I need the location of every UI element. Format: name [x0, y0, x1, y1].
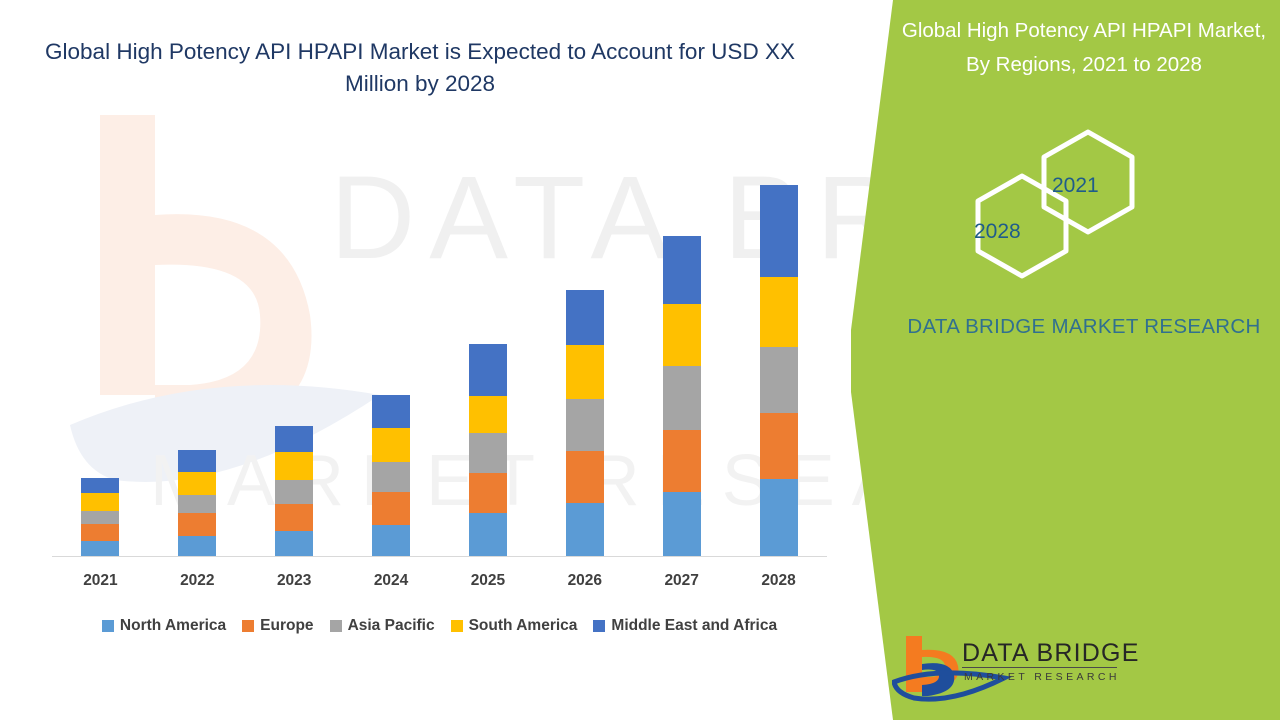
green-panel-content: Global High Potency API HPAPI Market, By… — [900, 0, 1280, 720]
x-axis-tick-2026: 2026 — [545, 572, 625, 590]
legend-item[interactable]: Middle East and Africa — [593, 617, 777, 635]
bar-segment — [275, 480, 313, 504]
bar-segment — [663, 236, 701, 304]
x-axis-line — [52, 556, 827, 557]
bar-segment — [372, 462, 410, 492]
x-axis-tick-2022: 2022 — [157, 572, 237, 590]
bar-segment — [275, 504, 313, 531]
bar-segment — [81, 493, 119, 511]
hexagon-badges — [960, 128, 1220, 283]
bar-2027 — [663, 236, 701, 556]
x-axis-tick-2027: 2027 — [642, 572, 722, 590]
legend-item[interactable]: Asia Pacific — [330, 617, 435, 635]
bar-segment — [275, 426, 313, 452]
bar-segment — [469, 473, 507, 513]
bar-2022 — [178, 450, 216, 556]
bar-segment — [469, 396, 507, 433]
logo-company-name: DATA BRIDGE — [962, 639, 1140, 668]
bar-segment — [372, 492, 410, 525]
x-axis-tick-2023: 2023 — [254, 572, 334, 590]
bar-segment — [760, 347, 798, 413]
hexagon-2021-label: 2021 — [1052, 174, 1099, 198]
x-axis-tick-2024: 2024 — [351, 572, 431, 590]
legend-label: Asia Pacific — [348, 617, 435, 635]
bar-segment — [663, 492, 701, 556]
hexagon-2028-label: 2028 — [974, 220, 1021, 244]
bar-segment — [178, 536, 216, 556]
panel-title: Global High Potency API HPAPI Market, By… — [894, 14, 1274, 82]
bar-segment — [81, 511, 119, 524]
logo-divider — [962, 667, 1117, 668]
bar-segment — [760, 185, 798, 277]
bar-segment — [566, 399, 604, 451]
bar-segment — [178, 495, 216, 513]
bar-2025 — [469, 344, 507, 556]
legend-label: Middle East and Africa — [611, 617, 777, 635]
bar-segment — [469, 344, 507, 396]
bar-2028 — [760, 185, 798, 556]
legend-label: Europe — [260, 617, 313, 635]
legend-item[interactable]: Europe — [242, 617, 313, 635]
bar-segment — [372, 428, 410, 462]
bar-segment — [566, 451, 604, 503]
chart-title: Global High Potency API HPAPI Market is … — [40, 36, 800, 100]
bar-2026 — [566, 290, 604, 556]
x-axis-labels: 20212022202320242025202620272028 — [52, 572, 827, 596]
brand-name: DATA BRIDGE MARKET RESEARCH — [894, 310, 1274, 343]
x-axis-tick-2028: 2028 — [739, 572, 819, 590]
legend-swatch-icon — [242, 620, 254, 632]
logo-tagline: MARKET RESEARCH — [964, 671, 1120, 683]
bar-segment — [178, 513, 216, 536]
bar-segment — [469, 513, 507, 556]
bar-segment — [178, 450, 216, 472]
legend-swatch-icon — [102, 620, 114, 632]
bar-segment — [760, 277, 798, 347]
plot-area — [52, 160, 827, 557]
chart-legend: North AmericaEuropeAsia PacificSouth Ame… — [52, 617, 827, 635]
legend-swatch-icon — [451, 620, 463, 632]
bar-segment — [275, 531, 313, 556]
bar-segment — [566, 345, 604, 399]
bar-2023 — [275, 426, 313, 556]
legend-item[interactable]: North America — [102, 617, 226, 635]
legend-swatch-icon — [330, 620, 342, 632]
bar-segment — [663, 430, 701, 492]
bar-segment — [372, 395, 410, 428]
bar-2021 — [81, 478, 119, 556]
bar-segment — [178, 472, 216, 495]
bar-segment — [663, 366, 701, 430]
bar-segment — [469, 433, 507, 473]
legend-label: North America — [120, 617, 226, 635]
bar-segment — [566, 503, 604, 556]
bar-segment — [275, 452, 313, 480]
legend-item[interactable]: South America — [451, 617, 578, 635]
bar-segment — [760, 413, 798, 479]
x-axis-tick-2021: 2021 — [60, 572, 140, 590]
bar-segment — [81, 478, 119, 493]
company-logo: DATA BRIDGE MARKET RESEARCH — [892, 630, 1132, 708]
legend-swatch-icon — [593, 620, 605, 632]
bar-2024 — [372, 395, 410, 556]
x-axis-tick-2025: 2025 — [448, 572, 528, 590]
bar-segment — [372, 525, 410, 556]
bar-segment — [81, 541, 119, 556]
legend-label: South America — [469, 617, 578, 635]
bar-segment — [81, 524, 119, 541]
bar-segment — [566, 290, 604, 345]
bar-segment — [760, 479, 798, 556]
bar-segment — [663, 304, 701, 366]
chart-panel: DATA BRIDGE MARKET RESEARCH Global High … — [0, 0, 900, 720]
